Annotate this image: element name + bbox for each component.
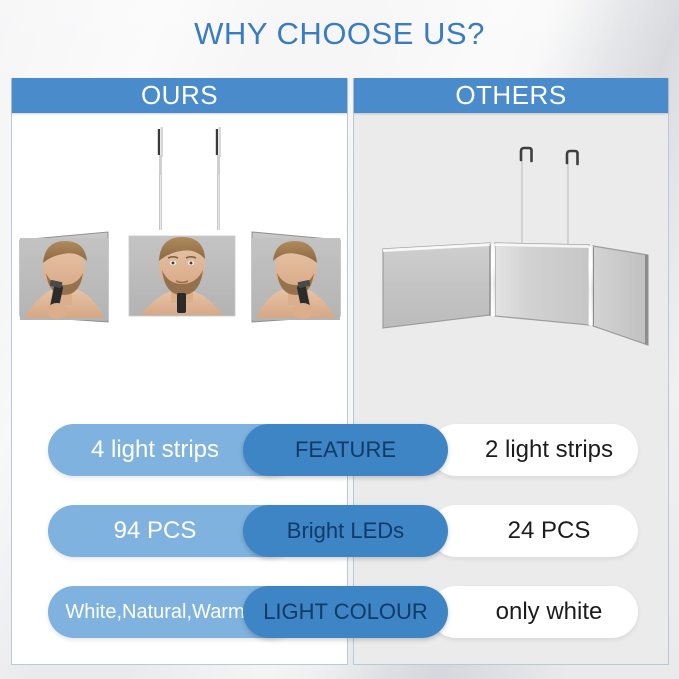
mirror-center-panel <box>495 243 589 325</box>
row-value-others: only white <box>430 586 638 638</box>
mirror-center-panel-lit <box>124 231 240 323</box>
mirror-right-wing <box>593 246 648 345</box>
row-feature-label: FEATURE <box>243 424 448 476</box>
comparison-row: White,Natural,Warm only white LIGHT COLO… <box>0 586 679 638</box>
mirror-left-wing <box>20 232 110 324</box>
comparison-row: 4 light strips 2 light strips FEATURE <box>0 424 679 476</box>
page-title: WHY CHOOSE US? <box>0 16 679 52</box>
mirror-left-wing <box>383 243 490 328</box>
led-light-strip-right <box>589 246 594 325</box>
row-feature-label: Bright LEDs <box>243 505 448 557</box>
product-image-others <box>354 113 670 413</box>
infographic-canvas: WHY CHOOSE US? OURS <box>0 0 679 679</box>
comparison-rows: 4 light strips 2 light strips FEATURE 94… <box>0 424 679 664</box>
comparison-row: 94 PCS 24 PCS Bright LEDs <box>0 505 679 557</box>
led-light-strip-left <box>491 244 496 316</box>
row-value-others: 24 PCS <box>430 505 638 557</box>
row-value-others: 2 light strips <box>430 424 638 476</box>
hanger-rods-icon <box>158 127 221 241</box>
product-image-ours <box>12 113 349 413</box>
panel-header-others: OTHERS <box>354 78 668 113</box>
panel-header-ours: OURS <box>12 78 347 113</box>
row-feature-label: LIGHT COLOUR <box>243 586 448 638</box>
mirror-right-wing <box>252 232 342 324</box>
